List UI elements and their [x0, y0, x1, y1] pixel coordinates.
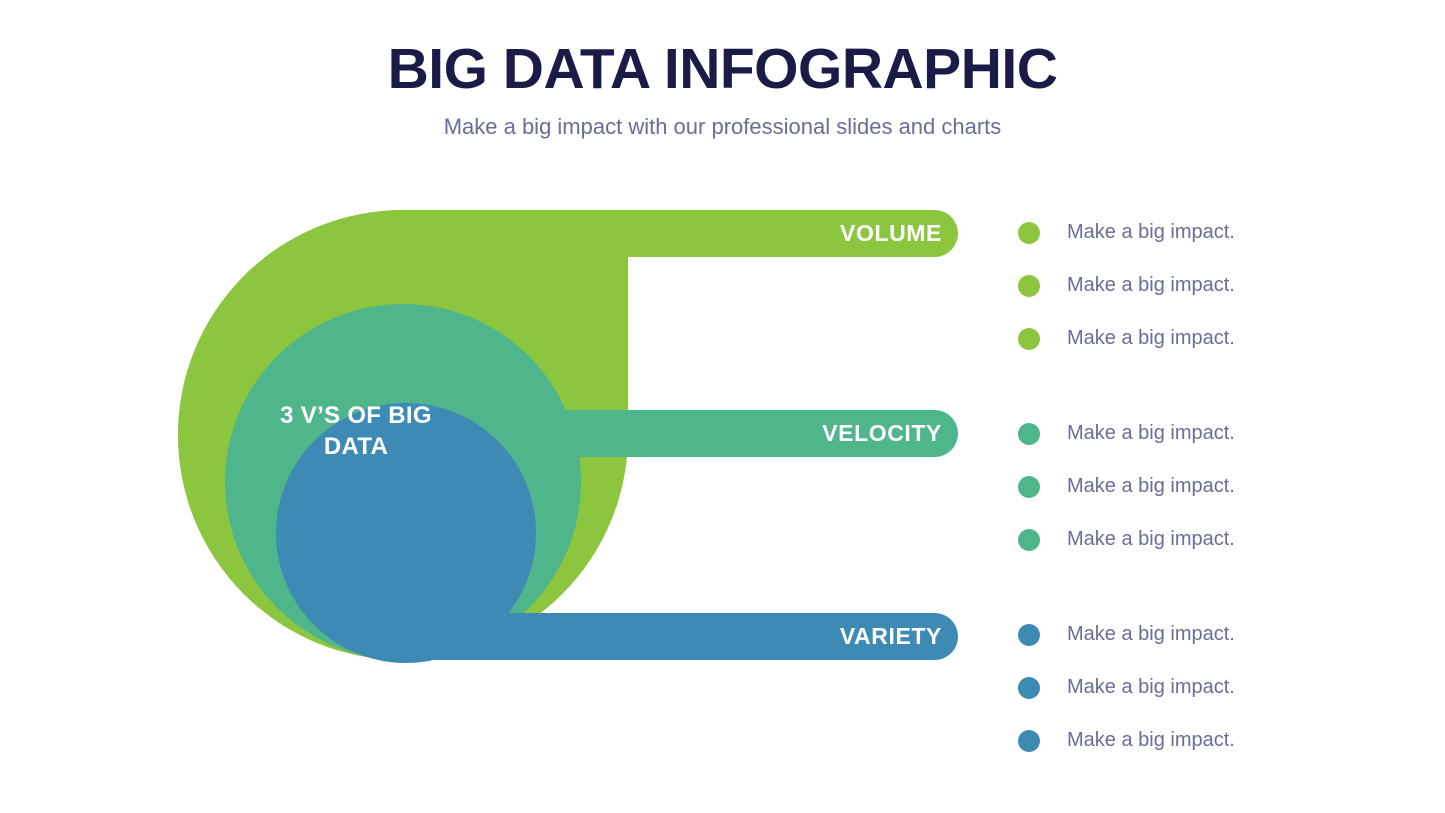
legend-item-label: Make a big impact.	[1067, 676, 1235, 699]
legend-item-label: Make a big impact.	[1067, 221, 1235, 244]
bullet-dot-icon	[1018, 328, 1040, 350]
legend-group-volume: Make a big impact. Make a big impact. Ma…	[1018, 206, 1418, 365]
list-item[interactable]: Make a big impact.	[1018, 714, 1418, 767]
list-item[interactable]: Make a big impact.	[1018, 460, 1418, 513]
legend-item-label: Make a big impact.	[1067, 528, 1235, 551]
three-vs-diagram: VOLUME VELOCITY VARIETY 3 V’S OF BIG DAT…	[150, 185, 1020, 685]
list-item[interactable]: Make a big impact.	[1018, 513, 1418, 566]
bullet-dot-icon	[1018, 677, 1040, 699]
page-title: BIG DATA INFOGRAPHIC	[0, 40, 1445, 100]
bullet-dot-icon	[1018, 476, 1040, 498]
legend-item-label: Make a big impact.	[1067, 623, 1235, 646]
bullet-dot-icon	[1018, 222, 1040, 244]
list-item[interactable]: Make a big impact.	[1018, 206, 1418, 259]
list-item[interactable]: Make a big impact.	[1018, 661, 1418, 714]
legend-group-velocity: Make a big impact. Make a big impact. Ma…	[1018, 407, 1418, 566]
legend-item-label: Make a big impact.	[1067, 729, 1235, 752]
legend-item-label: Make a big impact.	[1067, 475, 1235, 498]
bullet-dot-icon	[1018, 624, 1040, 646]
diagram-svg	[150, 185, 1020, 685]
bullet-dot-icon	[1018, 423, 1040, 445]
list-item[interactable]: Make a big impact.	[1018, 407, 1418, 460]
legend-item-label: Make a big impact.	[1067, 274, 1235, 297]
list-item[interactable]: Make a big impact.	[1018, 608, 1418, 661]
bullet-dot-icon	[1018, 529, 1040, 551]
legend-item-label: Make a big impact.	[1067, 422, 1235, 445]
page-subtitle: Make a big impact with our professional …	[0, 114, 1445, 140]
bullet-dot-icon	[1018, 730, 1040, 752]
list-item[interactable]: Make a big impact.	[1018, 312, 1418, 365]
legend: Make a big impact. Make a big impact. Ma…	[1018, 206, 1418, 767]
bullet-dot-icon	[1018, 275, 1040, 297]
legend-item-label: Make a big impact.	[1067, 327, 1235, 350]
infographic-slide: BIG DATA INFOGRAPHIC Make a big impact w…	[0, 0, 1445, 813]
legend-group-variety: Make a big impact. Make a big impact. Ma…	[1018, 608, 1418, 767]
list-item[interactable]: Make a big impact.	[1018, 259, 1418, 312]
header: BIG DATA INFOGRAPHIC Make a big impact w…	[0, 40, 1445, 140]
